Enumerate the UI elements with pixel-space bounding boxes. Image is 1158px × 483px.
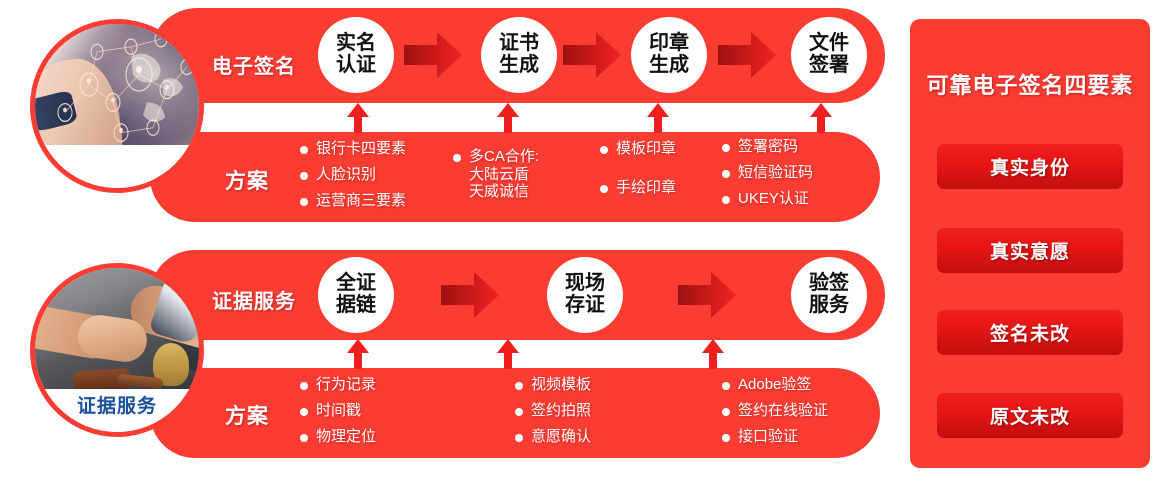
list-item: 意愿确认: [515, 429, 591, 446]
bullet-dot: [300, 382, 308, 390]
photo-white-strip: [35, 145, 199, 188]
bullet-dot: [300, 172, 308, 180]
step-line2: 服务: [809, 295, 849, 317]
list-item: UKEY认证: [722, 191, 813, 208]
step-line1: 文件: [809, 33, 849, 55]
list-item: 物理定位: [300, 429, 376, 446]
step-line1: 实名: [336, 33, 376, 55]
esign-scheme-group-3: 模板印章 手绘印章: [600, 141, 676, 206]
bullet-dot: [300, 434, 308, 442]
bullet-dot: [600, 185, 608, 193]
step-line2: 签署: [809, 55, 849, 77]
bullet-dot: [600, 146, 608, 154]
esign-scheme-group-1: 银行卡四要素 人脸识别 运营商三要素: [300, 141, 406, 218]
evidence-photo: 证据服务: [30, 263, 204, 437]
element-pill-4[interactable]: 原文未改: [937, 393, 1123, 438]
step-line1: 验签: [809, 273, 849, 295]
flow-arrow-evidence-2: [678, 272, 736, 318]
list-item: 视频模板: [515, 377, 591, 394]
list-item: 签约拍照: [515, 403, 591, 420]
flow-arrow-evidence-1: [441, 272, 499, 318]
evidence-scheme-group-3: Adobe验签 签约在线验证 接口验证: [722, 377, 828, 454]
connector-arrow-evidence-3: [700, 339, 726, 369]
bullet-dot: [300, 198, 308, 206]
bullet-dot: [453, 154, 461, 162]
network-overlay-icon: [35, 24, 199, 145]
step-line2: 认证: [336, 55, 376, 77]
list-item: 多CA合作: 大陆云盾 天威诚信: [453, 149, 539, 200]
list-item: 签约在线验证: [722, 403, 828, 420]
element-pill-3[interactable]: 签名未改: [937, 310, 1123, 355]
bullet-dot: [515, 382, 523, 390]
connector-arrow-esign-3: [645, 103, 671, 133]
step-line2: 存证: [565, 295, 605, 317]
step-circle-evidence-1[interactable]: 全证据链: [318, 257, 394, 333]
list-item: 时间戳: [300, 403, 376, 420]
bullet-dot: [722, 382, 730, 390]
esign-scheme-group-4: 签署密码 短信验证码 UKEY认证: [722, 139, 813, 216]
list-item: 手绘印章: [600, 180, 676, 197]
step-circle-esign-1[interactable]: 实名认证: [318, 17, 394, 93]
step-circle-evidence-2[interactable]: 现场存证: [547, 257, 623, 333]
connector-arrow-evidence-1: [345, 339, 371, 369]
flow-arrow-esign-2: [563, 32, 621, 78]
bullet-dot: [300, 408, 308, 416]
network-globe-photo: [35, 24, 199, 188]
list-item: 模板印章: [600, 141, 676, 158]
step-line1: 印章: [649, 33, 689, 55]
step-line2: 据链: [336, 295, 376, 317]
step-circle-esign-3[interactable]: 印章生成: [631, 17, 707, 93]
list-item: 行为记录: [300, 377, 376, 394]
list-item: Adobe验签: [722, 377, 828, 394]
connector-arrow-esign-2: [495, 103, 521, 133]
list-item: 运营商三要素: [300, 193, 406, 210]
esign-flow-label: 电子签名: [212, 50, 296, 79]
flow-arrow-esign-1: [404, 32, 462, 78]
list-item: 接口验证: [722, 429, 828, 446]
connector-arrow-evidence-2: [495, 339, 521, 369]
esign-plan-label: 方案: [225, 165, 269, 195]
bullet-dot: [722, 144, 730, 152]
bullet-dot: [300, 146, 308, 154]
bullet-dot: [722, 170, 730, 178]
element-pill-1[interactable]: 真实身份: [937, 144, 1123, 189]
list-item: 签署密码: [722, 139, 813, 156]
bullet-dot: [722, 196, 730, 204]
panel-title: 可靠电子签名四要素: [910, 68, 1150, 100]
step-circle-esign-2[interactable]: 证书生成: [481, 17, 557, 93]
bullet-dot: [722, 408, 730, 416]
bullet-dot: [722, 434, 730, 442]
step-circle-evidence-3[interactable]: 验签服务: [791, 257, 867, 333]
evidence-scheme-group-2: 视频模板 签约拍照 意愿确认: [515, 377, 591, 454]
list-item: 人脸识别: [300, 167, 406, 184]
infographic-canvas: 电子签名 方案 实名认证 证书生成 印章生成 文件签署 银行卡四要素 人脸识别 …: [0, 0, 1158, 483]
bullet-dot: [515, 434, 523, 442]
connector-arrow-esign-1: [345, 103, 371, 133]
list-item: 短信验证码: [722, 165, 813, 182]
evidence-photo-caption: 证据服务: [35, 391, 199, 418]
step-circle-esign-4[interactable]: 文件签署: [791, 17, 867, 93]
step-line1: 现场: [565, 273, 605, 295]
evidence-scheme-group-1: 行为记录 时间戳 物理定位: [300, 377, 376, 454]
esign-scheme-group-2: 多CA合作: 大陆云盾 天威诚信: [453, 149, 539, 209]
flow-arrow-esign-3: [718, 32, 776, 78]
list-item: 银行卡四要素: [300, 141, 406, 158]
step-line2: 生成: [499, 55, 539, 77]
step-line1: 全证: [336, 273, 376, 295]
evidence-plan-label: 方案: [225, 400, 269, 430]
evidence-flow-label: 证据服务: [212, 285, 296, 314]
step-line1: 证书: [499, 33, 539, 55]
esign-photo: [30, 19, 204, 193]
bullet-dot: [515, 408, 523, 416]
connector-arrow-esign-4: [808, 103, 834, 133]
step-line2: 生成: [649, 55, 689, 77]
element-pill-2[interactable]: 真实意愿: [937, 228, 1123, 273]
